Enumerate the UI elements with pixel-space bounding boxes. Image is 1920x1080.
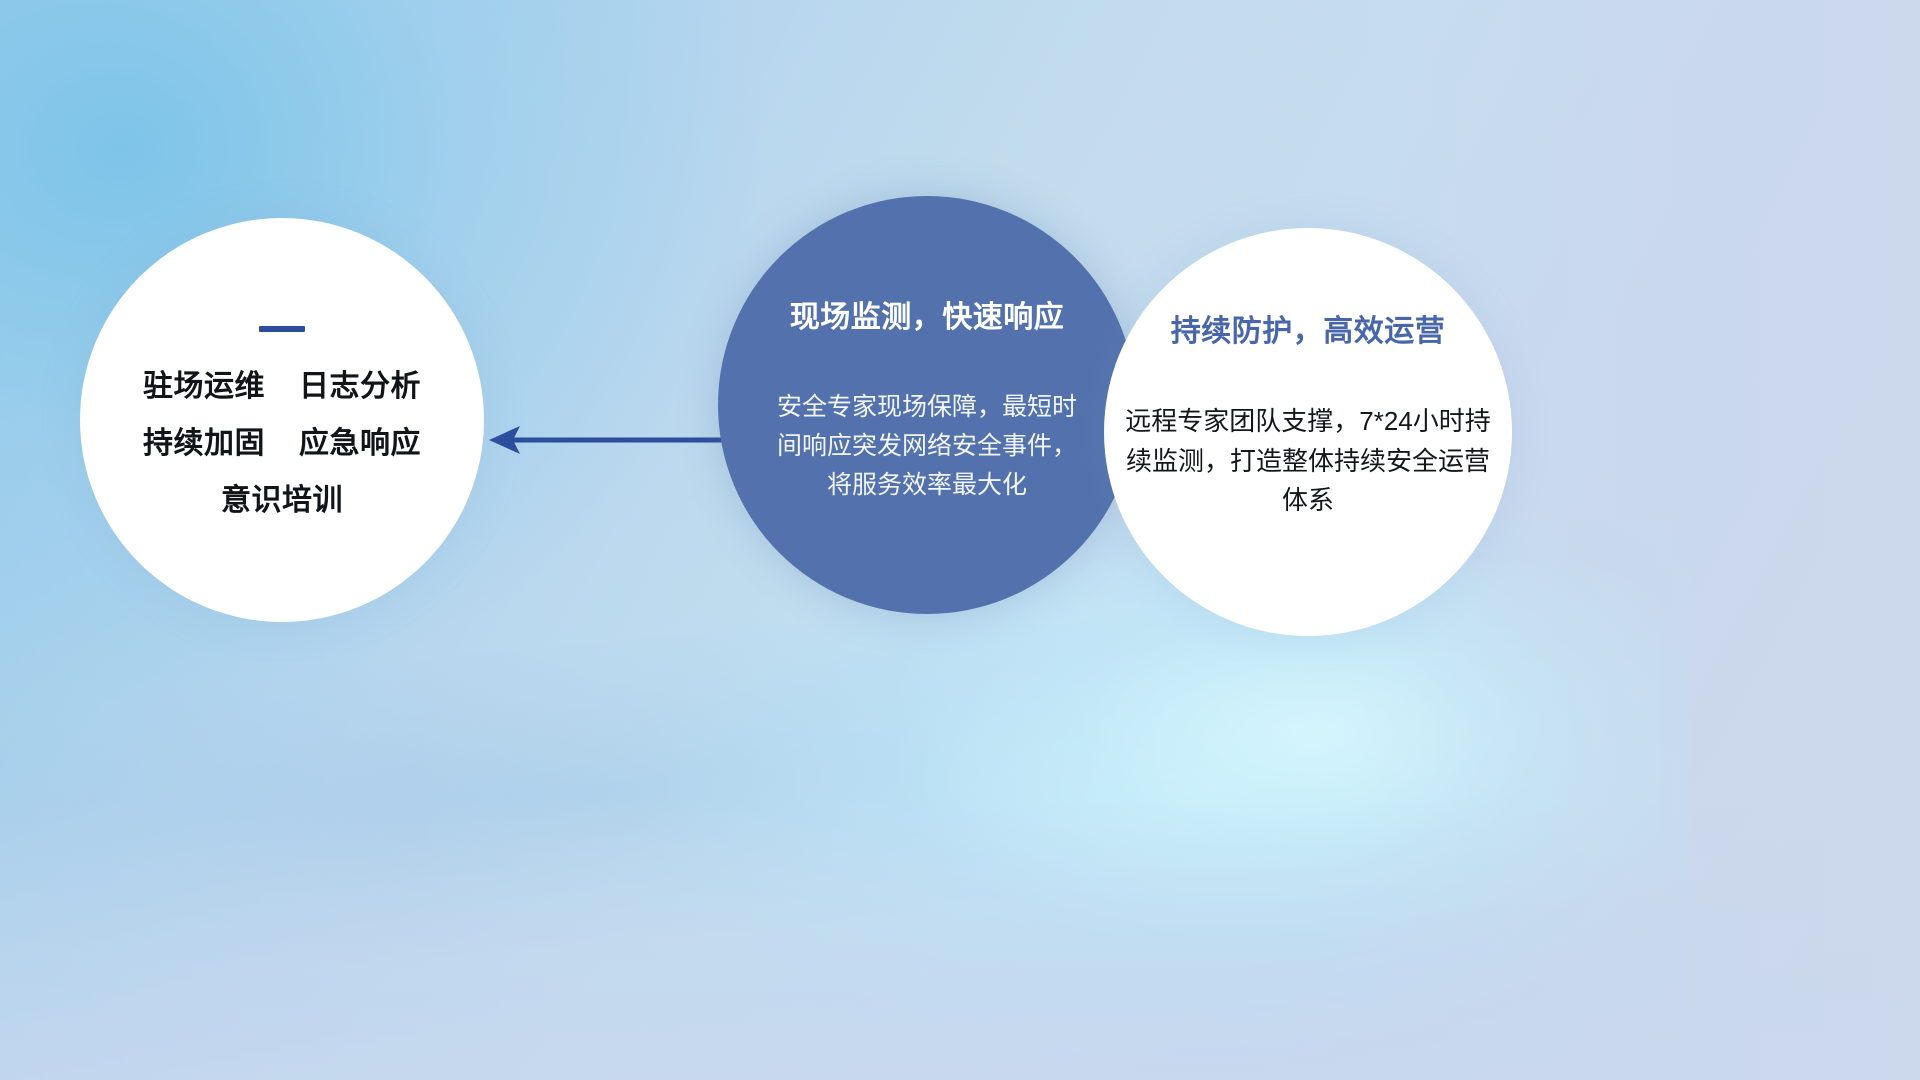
skill-row: 意识培训 (80, 486, 484, 516)
skill-row: 持续加固 应急响应 (80, 429, 484, 459)
skills-circle: 驻场运维 日志分析 持续加固 应急响应 意识培训 (80, 218, 484, 622)
skill-tag: 持续加固 (143, 429, 265, 459)
flow-arrow-left (480, 415, 730, 470)
skill-tag: 日志分析 (299, 372, 421, 402)
onsite-circle-body: 安全专家现场保障，最短时间响应突发网络安全事件，将服务效率最大化 (772, 388, 1082, 504)
skill-tag: 驻场运维 (143, 372, 265, 402)
skill-tag: 应急响应 (299, 429, 421, 459)
onsite-circle-title: 现场监测，快速响应 (790, 292, 1065, 336)
skill-tag: 意识培训 (221, 486, 343, 516)
operations-circle-title: 持续防护，高效运营 (1171, 306, 1446, 350)
onsite-monitoring-circle: 现场监测，快速响应 安全专家现场保障，最短时间响应突发网络安全事件，将服务效率最… (718, 196, 1136, 614)
skill-row: 驻场运维 日志分析 (80, 372, 484, 402)
skill-tag-list: 驻场运维 日志分析 持续加固 应急响应 意识培训 (80, 372, 484, 543)
operations-circle-body: 远程专家团队支撑，7*24小时持续监测，打造整体持续安全运营体系 (1124, 402, 1492, 521)
continuous-operations-circle: 持续防护，高效运营 远程专家团队支撑，7*24小时持续监测，打造整体持续安全运营… (1104, 228, 1512, 636)
divider-dash-icon (259, 326, 305, 332)
